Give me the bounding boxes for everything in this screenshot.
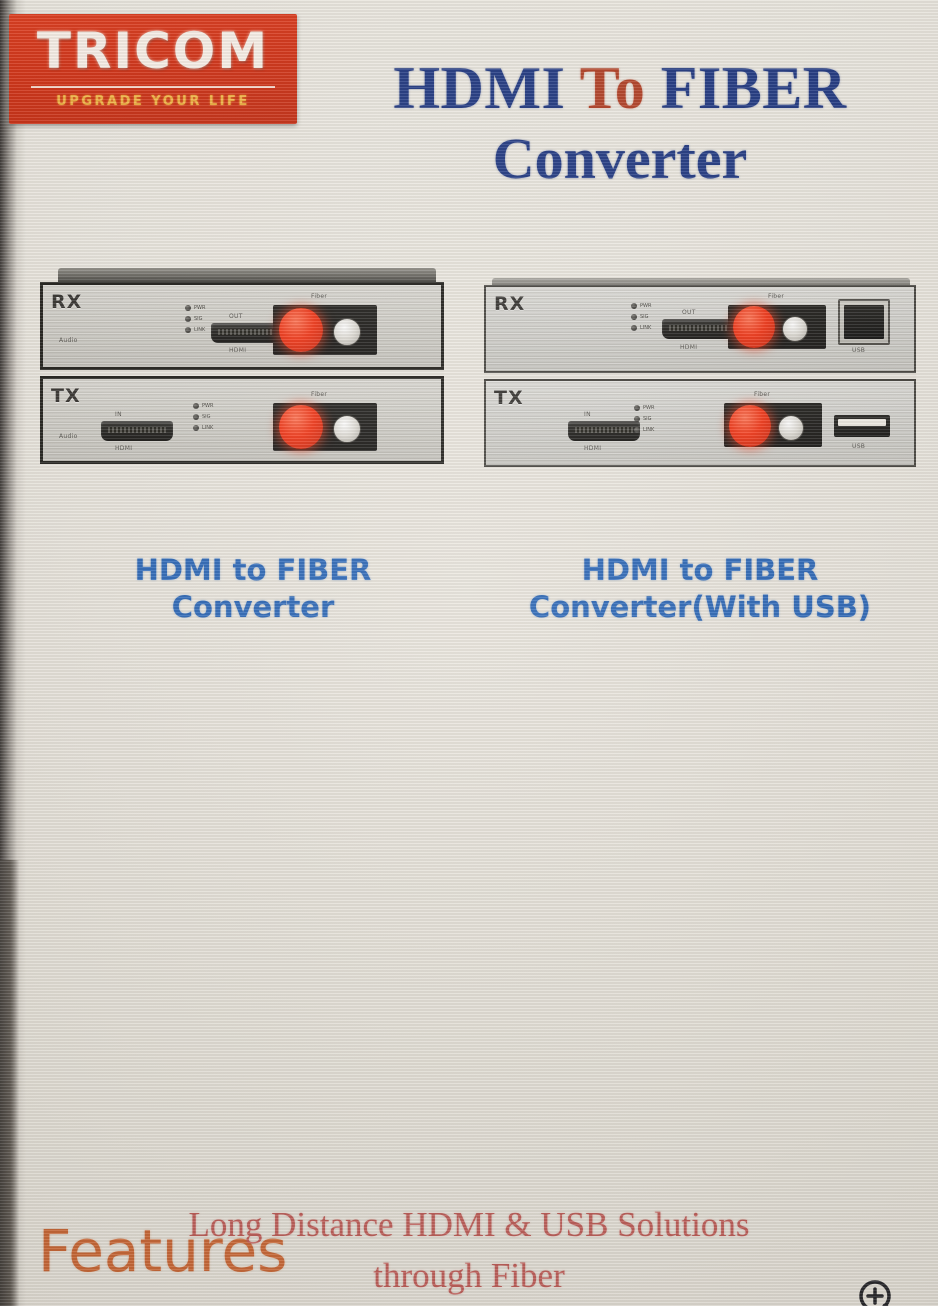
footer-line-2: through Fiber xyxy=(0,1251,938,1302)
audio-label: Audio xyxy=(59,337,78,344)
led-indicator: LINK xyxy=(185,327,205,333)
caption-line-1: HDMI to FIBER xyxy=(470,552,930,589)
title-segment-to: To xyxy=(580,55,646,121)
product-image-converter-with-usb: RX PWR SIG LINK OUT HDMI Fiber USB xyxy=(484,278,916,467)
led-label: LINK xyxy=(643,427,654,433)
led-dot-icon xyxy=(631,303,637,309)
fiber-optical-port xyxy=(333,415,361,443)
device-unit-tx: TX Audio IN HDMI PWR SIG LINK Fiber xyxy=(40,376,444,464)
led-label: LINK xyxy=(202,425,213,431)
fiber-connector-cap xyxy=(729,405,771,447)
footer-line-1: Long Distance HDMI & USB Solutions xyxy=(189,1205,750,1244)
fiber-panel xyxy=(724,403,822,447)
title-line-1: HDMI To FIBER xyxy=(310,58,930,118)
led-indicator: LINK xyxy=(631,325,651,331)
fiber-label: Fiber xyxy=(754,391,770,398)
led-label: SIG xyxy=(202,414,211,420)
led-indicator: SIG xyxy=(634,416,654,422)
led-label: SIG xyxy=(643,416,652,422)
led-indicator: LINK xyxy=(634,427,654,433)
led-indicator: SIG xyxy=(631,314,651,320)
hdmi-label: HDMI xyxy=(115,445,132,452)
audio-label: Audio xyxy=(59,433,78,440)
device-top-edge xyxy=(492,278,910,285)
led-indicator: PWR xyxy=(634,405,654,411)
footer-tagline: Long Distance HDMI & USB Solutions throu… xyxy=(0,1200,938,1302)
hdmi-direction-label: IN xyxy=(584,411,591,418)
usb-label: USB xyxy=(852,347,865,354)
led-dot-icon xyxy=(185,316,191,322)
led-label: PWR xyxy=(202,403,213,409)
led-indicator: SIG xyxy=(193,414,213,420)
fiber-optical-port xyxy=(782,316,808,342)
led-label: LINK xyxy=(194,327,205,333)
led-indicator: SIG xyxy=(185,316,205,322)
fiber-label: Fiber xyxy=(311,293,327,300)
led-group: PWR SIG LINK xyxy=(634,405,654,433)
usb-port xyxy=(834,415,890,437)
unit-label-tx: TX xyxy=(51,385,81,407)
fiber-connector-cap xyxy=(279,405,323,449)
unit-label-rx: RX xyxy=(51,291,82,313)
led-dot-icon xyxy=(634,427,640,433)
fiber-panel xyxy=(273,305,377,355)
slide-page: TRICOM UPGRADE YOUR LIFE HDMI To FIBER C… xyxy=(0,0,938,1306)
header: TRICOM UPGRADE YOUR LIFE HDMI To FIBER C… xyxy=(0,0,938,250)
usb-port xyxy=(838,299,890,345)
caption-line-2: Converter(With USB) xyxy=(470,589,930,626)
led-label: LINK xyxy=(640,325,651,331)
fiber-label: Fiber xyxy=(768,293,784,300)
led-dot-icon xyxy=(634,405,640,411)
led-group: PWR SIG LINK xyxy=(631,303,651,331)
title-segment-fiber: FIBER xyxy=(645,55,846,121)
led-dot-icon xyxy=(193,425,199,431)
product-caption-converter-usb: HDMI to FIBER Converter(With USB) xyxy=(470,552,930,626)
device-unit-rx-usb: RX PWR SIG LINK OUT HDMI Fiber USB xyxy=(484,285,916,373)
hdmi-direction-label: OUT xyxy=(229,313,243,320)
hdmi-direction-label: OUT xyxy=(682,309,696,316)
caption-line-2: Converter xyxy=(58,589,448,626)
device-top-edge xyxy=(58,268,436,282)
hdmi-port xyxy=(101,421,173,441)
led-dot-icon xyxy=(185,305,191,311)
tricom-logo: TRICOM UPGRADE YOUR LIFE xyxy=(9,14,297,124)
device-unit-rx: RX Audio PWR SIG LINK OUT HDMI Fiber xyxy=(40,282,444,370)
logo-wordmark: TRICOM xyxy=(9,22,297,80)
title-line-2: Converter xyxy=(310,130,930,188)
fiber-panel xyxy=(273,403,377,451)
logo-divider xyxy=(31,86,275,88)
usb-label: USB xyxy=(852,443,865,450)
device-unit-tx-usb: TX IN HDMI PWR SIG LINK Fiber USB xyxy=(484,379,916,467)
hdmi-label: HDMI xyxy=(680,344,697,351)
hdmi-label: HDMI xyxy=(229,347,246,354)
led-label: PWR xyxy=(643,405,654,411)
led-label: SIG xyxy=(194,316,203,322)
fiber-panel xyxy=(728,305,826,349)
led-dot-icon xyxy=(631,314,637,320)
page-title: HDMI To FIBER Converter xyxy=(310,58,930,188)
led-dot-icon xyxy=(193,403,199,409)
hdmi-port xyxy=(662,319,734,339)
led-indicator: LINK xyxy=(193,425,213,431)
fiber-label: Fiber xyxy=(311,391,327,398)
unit-label-tx: TX xyxy=(494,387,524,409)
led-dot-icon xyxy=(185,327,191,333)
product-gallery: RX Audio PWR SIG LINK OUT HDMI Fiber TX xyxy=(0,250,938,550)
led-indicator: PWR xyxy=(185,305,205,311)
led-indicator: PWR xyxy=(193,403,213,409)
led-group: PWR SIG LINK xyxy=(193,403,213,431)
fiber-connector-cap xyxy=(279,308,323,352)
led-dot-icon xyxy=(634,416,640,422)
fiber-optical-port xyxy=(778,415,804,441)
unit-label-rx: RX xyxy=(494,293,525,315)
led-dot-icon xyxy=(631,325,637,331)
led-dot-icon xyxy=(193,414,199,420)
led-group: PWR SIG LINK xyxy=(185,305,205,333)
logo-tagline: UPGRADE YOUR LIFE xyxy=(9,94,297,109)
product-caption-converter: HDMI to FIBER Converter xyxy=(58,552,448,626)
fiber-optical-port xyxy=(333,318,361,346)
led-indicator: PWR xyxy=(631,303,651,309)
caption-line-1: HDMI to FIBER xyxy=(58,552,448,589)
product-image-converter: RX Audio PWR SIG LINK OUT HDMI Fiber TX xyxy=(40,268,444,464)
hdmi-direction-label: IN xyxy=(115,411,122,418)
led-label: SIG xyxy=(640,314,649,320)
hdmi-label: HDMI xyxy=(584,445,601,452)
led-label: PWR xyxy=(194,305,205,311)
fiber-connector-cap xyxy=(733,306,775,348)
hdmi-port xyxy=(568,421,640,441)
title-segment-hdmi: HDMI xyxy=(393,55,579,121)
led-label: PWR xyxy=(640,303,651,309)
